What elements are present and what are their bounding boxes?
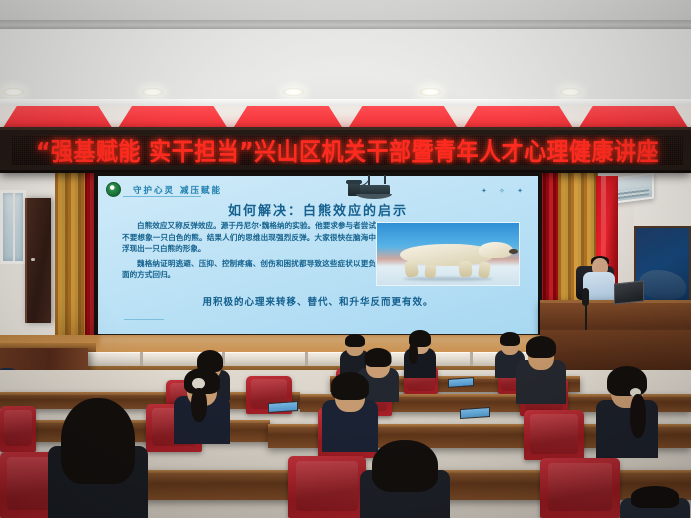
slide-paragraph: 白熊效应又称反弹效应。源于丹尼尔·魏格纳的实验。他要求参与者尝试不要想象一只白色…: [122, 220, 376, 255]
slide-title: 如何解决：白熊效应的启示: [98, 200, 538, 219]
tablet-icon: [448, 377, 474, 388]
conference-hall-photo: “强基赋能 实干担当”兴山区机关干部暨青年人才心理健康讲座 守护心灵 减压赋能 …: [0, 0, 691, 518]
attendee-hair: [331, 372, 369, 400]
audience-seat: [288, 456, 366, 518]
led-banner-text: “强基赋能 实干担当”兴山区机关干部暨青年人才心理健康讲座: [36, 135, 659, 165]
attendee-hair: [607, 366, 647, 396]
slide-paragraph: 魏格纳证明逃避、压抑、控制疼痛、创伤和困扰都导致这些症状以更负面的方式回归。: [122, 258, 376, 281]
polar-bear-photo: [376, 222, 520, 286]
attendee-hair: [372, 440, 438, 492]
balustrade-post: [470, 352, 473, 366]
slide-conclusion: 用积极的心理来转移、替代、和升华反而更有效。: [98, 294, 538, 308]
downlight-icon: [142, 88, 163, 96]
attendee: [596, 366, 658, 458]
attendee-ponytail: [409, 342, 418, 364]
tablet-icon: [460, 407, 490, 419]
attendee-ponytail: [630, 394, 646, 438]
bear-leg: [478, 261, 492, 278]
attendee-ponytail: [191, 388, 207, 422]
audience-seat: [540, 458, 620, 518]
ceiling-upper-slab: [0, 0, 691, 22]
audience-seat: [0, 406, 36, 452]
led-banner-frame: “强基赋能 实干担当”兴山区机关干部暨青年人才心理健康讲座: [0, 127, 691, 173]
presentation-slide: 守护心灵 减压赋能 ✦ ✧ ✦ 如何解决：白熊效应的启示 白熊效应又称反弹效应。…: [98, 176, 538, 334]
attendee-hair: [345, 334, 365, 347]
downlight-icon: [283, 88, 304, 96]
attendee-hair: [61, 398, 135, 484]
bear-leg: [459, 261, 473, 278]
ceiling-projector-icon: [348, 175, 392, 201]
attendee-hair: [365, 348, 392, 367]
slide-body: 白熊效应又称反弹效应。源于丹尼尔·魏格纳的实验。他要求参与者尝试不要想象一只白色…: [122, 220, 376, 284]
organization-logo-icon: [106, 182, 121, 197]
downlight-icon: [3, 88, 24, 96]
attendee-hair: [631, 486, 679, 508]
projector-base-plate: [356, 194, 392, 199]
attendee: [516, 336, 566, 404]
attendee: [620, 486, 690, 518]
slide-header-rule: [123, 196, 201, 197]
laptop-icon: [614, 280, 644, 304]
tablet-icon: [268, 401, 298, 413]
ceiling-panel: [0, 29, 691, 101]
attendee: [174, 368, 230, 444]
attendee: [48, 398, 148, 518]
sparkle-decoration-icon: ✦ ✧ ✦: [481, 187, 528, 195]
downlight-icon: [560, 88, 581, 96]
projector-mount-rod: [384, 175, 386, 184]
led-banner-screen: “强基赋能 实干担当”兴山区机关干部暨青年人才心理健康讲座: [12, 135, 683, 165]
attendee: [360, 440, 450, 518]
stage-reflection: [100, 336, 540, 352]
gold-curtain: [55, 173, 85, 353]
bear-shadow: [403, 277, 494, 281]
projection-screen: 守护心灵 减压赋能 ✦ ✧ ✦ 如何解决：白熊效应的启示 白熊效应又称反弹效应。…: [94, 172, 542, 338]
balustrade-post: [140, 352, 143, 366]
attendee-hair: [526, 336, 556, 358]
side-window: [0, 190, 26, 264]
door-knob-icon: [31, 258, 35, 261]
balustrade-post: [305, 352, 308, 366]
slide-footer-rule: [124, 319, 164, 320]
audience-seat: [524, 410, 584, 460]
bear-nose: [509, 249, 518, 254]
attendee: [404, 330, 436, 378]
attendee-body: [596, 400, 658, 458]
side-door[interactable]: [25, 198, 51, 323]
slide-header-text: 守护心灵 减压赋能: [133, 184, 222, 196]
downlight-icon: [420, 88, 441, 96]
